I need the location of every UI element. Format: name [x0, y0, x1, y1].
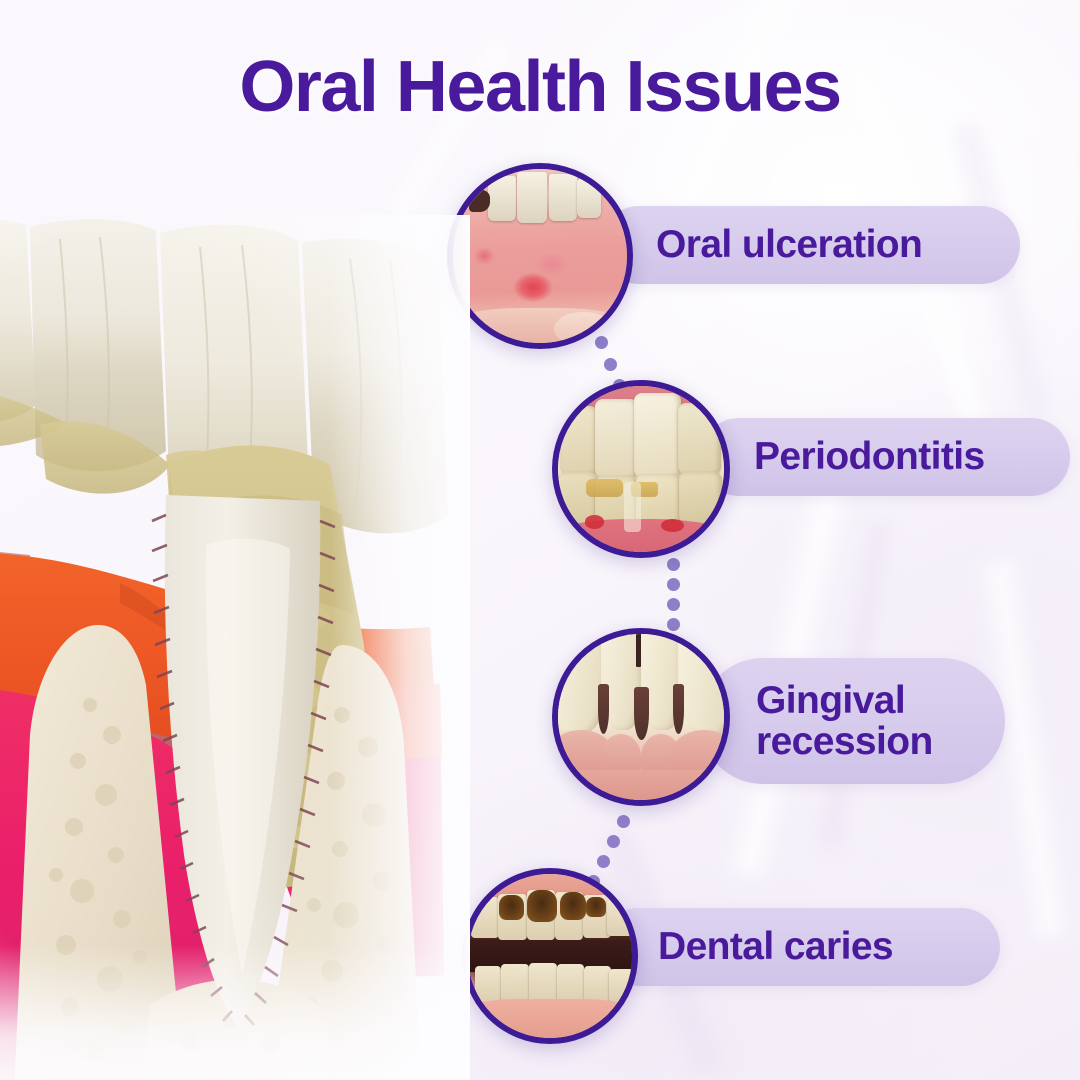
issue-label: Dental caries — [658, 926, 893, 967]
issue-label: Oral ulceration — [656, 224, 922, 265]
photo-oral-ulceration — [453, 169, 627, 343]
issue-pill-gingival-recession[interactable]: Gingival recession — [700, 658, 1005, 784]
photo-dental-caries — [468, 874, 632, 1038]
periodontitis-photo[interactable] — [552, 380, 730, 558]
hero-tooth-illustration — [0, 215, 470, 1080]
page-title: Oral Health Issues — [0, 46, 1080, 128]
issue-pill-oral-ulceration[interactable]: Oral ulceration — [600, 206, 1020, 284]
photo-gingival-recession — [558, 634, 724, 800]
gingival-recession-photo[interactable] — [552, 628, 730, 806]
infographic-canvas: Oral Health Issues Oral ulceration — [0, 0, 1080, 1080]
issue-pill-periodontitis[interactable]: Periodontitis — [700, 418, 1070, 496]
dental-caries-photo[interactable] — [462, 868, 638, 1044]
issue-pill-dental-caries[interactable]: Dental caries — [600, 908, 1000, 986]
photo-periodontitis — [558, 386, 724, 552]
issue-label: Gingival recession — [756, 680, 933, 763]
oral-ulceration-photo[interactable] — [447, 163, 633, 349]
issue-label: Periodontitis — [754, 436, 985, 477]
